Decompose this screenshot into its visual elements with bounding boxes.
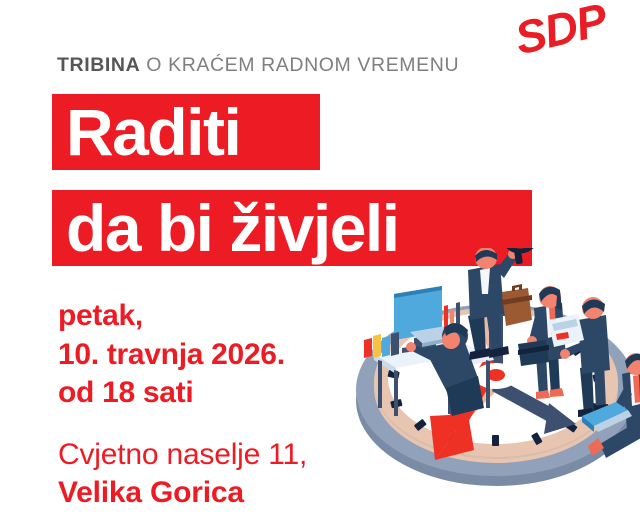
venue-street: Cvjetno naselje 11, (58, 436, 307, 474)
headline-box-line-1: Raditi (52, 94, 320, 170)
sdp-logo: SDP (516, 4, 626, 66)
headline-text-line-1: Raditi (66, 99, 240, 165)
poster-canvas: SDP TRIBINA O KRAĆEM RADNOM VREMENU Radi… (0, 0, 640, 525)
kicker-line: TRIBINA O KRAĆEM RADNOM VREMENU (57, 54, 459, 77)
kicker-rest: O KRAĆEM RADNOM VREMENU (140, 54, 459, 76)
event-time: od 18 sati (58, 374, 285, 413)
clock-illustration (352, 248, 640, 508)
event-venue-block: Cvjetno naselje 11, Velika Gorica (58, 436, 307, 512)
event-day: petak, (58, 297, 285, 336)
event-date-block: petak, 10. travnja 2026. od 18 sati (58, 297, 285, 413)
clock-center-hub (474, 363, 518, 389)
venue-city: Velika Gorica (58, 474, 307, 512)
headline-text-line-2: da bi živjeli (66, 195, 399, 261)
event-date: 10. travnja 2026. (58, 336, 285, 375)
kicker-strong: TRIBINA (57, 54, 140, 76)
sdp-logo-text: SDP (510, 0, 611, 65)
